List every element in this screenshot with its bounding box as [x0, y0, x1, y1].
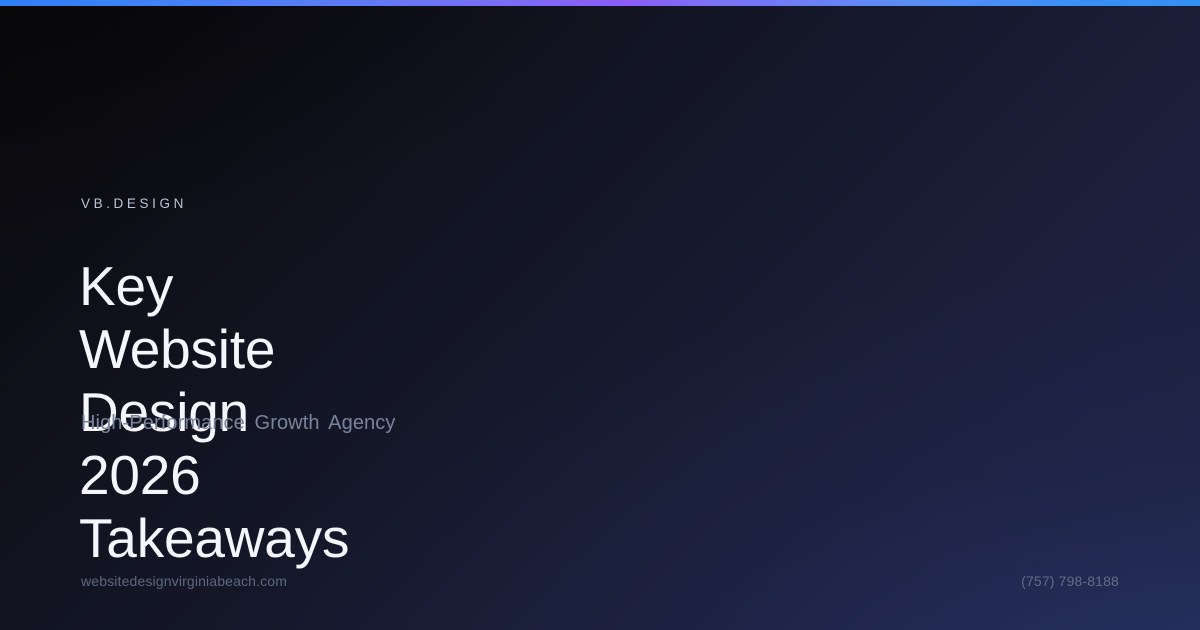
- footer-website-url[interactable]: websitedesignvirginiabeach.com: [81, 572, 287, 590]
- brand-eyebrow: VB.DESIGN: [81, 194, 187, 214]
- top-accent-gradient-bar: [0, 0, 1200, 6]
- footer-phone-number[interactable]: (757) 798-8188: [1021, 572, 1119, 590]
- card-footer: websitedesignvirginiabeach.com (757) 798…: [0, 572, 1200, 590]
- social-share-card: VB.DESIGN Key Website Design 2026 Takeaw…: [0, 0, 1200, 630]
- tagline: High-Performance Growth Agency: [81, 409, 395, 437]
